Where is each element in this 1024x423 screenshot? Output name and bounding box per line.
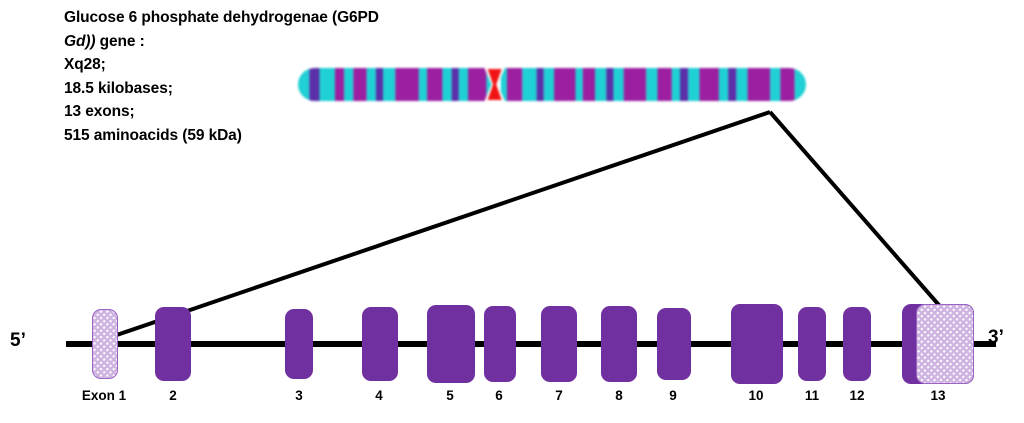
ideogram-band xyxy=(576,68,583,101)
ideogram-band xyxy=(624,68,647,101)
exon-label-3: 3 xyxy=(295,388,303,403)
ideogram-bands xyxy=(296,68,808,101)
ideogram-band xyxy=(699,68,718,101)
gene-word: gene : xyxy=(100,33,145,50)
ideogram-band xyxy=(320,68,335,101)
exon-box-12 xyxy=(843,307,871,381)
annotation-line-gene-alias: Gd)) gene : xyxy=(64,30,364,54)
ideogram-band xyxy=(688,68,699,101)
ideogram-band xyxy=(646,68,657,101)
ideogram-band xyxy=(335,68,344,101)
ideogram-band xyxy=(344,68,353,101)
exon-label-6: 6 xyxy=(495,388,503,403)
ideogram-band xyxy=(507,68,522,101)
exon-label-4: 4 xyxy=(375,388,383,403)
ideogram-band xyxy=(606,68,613,101)
chromosome-ideogram xyxy=(296,62,808,107)
ideogram-band xyxy=(537,68,544,101)
exon-label-9: 9 xyxy=(669,388,677,403)
exon-label-12: 12 xyxy=(849,388,864,403)
exon-13-utr-region xyxy=(916,304,974,384)
ideogram-band xyxy=(427,68,442,101)
ideogram-band xyxy=(595,68,606,101)
exon-label-8: 8 xyxy=(615,388,623,403)
exon-label-2: 2 xyxy=(169,388,177,403)
exon-label-10: 10 xyxy=(748,388,763,403)
ideogram-band xyxy=(657,68,671,101)
ideogram-band xyxy=(468,68,486,101)
ideogram-band xyxy=(452,68,459,101)
three-prime-label: 3’ xyxy=(988,327,1004,349)
five-prime-label: 5’ xyxy=(10,330,26,352)
exon-label-13: 13 xyxy=(930,388,945,403)
exon-box-2 xyxy=(155,307,191,381)
annotation-line-gene-name: Glucose 6 phosphate dehydrogenae (G6PD xyxy=(64,6,364,30)
ideogram-band xyxy=(419,68,427,101)
ideogram-band xyxy=(748,68,771,101)
gene-exon-track: Exon 12345678910111213 5’ 3’ xyxy=(0,280,1024,423)
exon-box-10 xyxy=(731,304,783,384)
ideogram-band xyxy=(459,68,468,101)
exon-box-9 xyxy=(657,308,691,380)
exon-label-1: Exon 1 xyxy=(82,388,126,403)
annotation-line-protein: 515 aminoacids (59 kDa) xyxy=(64,124,364,148)
ideogram-band xyxy=(780,68,794,101)
ideogram-band xyxy=(613,68,623,101)
ideogram-band xyxy=(309,68,319,101)
ideogram-band xyxy=(770,68,780,101)
exon-label-11: 11 xyxy=(805,388,819,403)
ideogram-band xyxy=(680,68,688,101)
ideogram-band xyxy=(795,68,808,101)
exon-box-11 xyxy=(798,307,826,381)
exon-box-3 xyxy=(285,309,313,379)
ideogram-band xyxy=(719,68,728,101)
exon-box-5 xyxy=(427,305,475,383)
ideogram-band xyxy=(383,68,395,101)
ideogram-band xyxy=(583,68,595,101)
exon-box-1 xyxy=(92,309,118,379)
ideogram-band xyxy=(442,68,451,101)
ideogram-band xyxy=(367,68,376,101)
gene-structure-figure: Glucose 6 phosphate dehydrogenae (G6PD G… xyxy=(0,0,1024,423)
ideogram-band xyxy=(522,68,536,101)
ideogram-band xyxy=(736,68,747,101)
exon-box-7 xyxy=(541,306,577,382)
exon-label-7: 7 xyxy=(555,388,563,403)
exon-box-4 xyxy=(362,307,398,381)
ideogram-band xyxy=(672,68,680,101)
exon-box-8 xyxy=(601,306,637,382)
ideogram-band xyxy=(728,68,736,101)
ideogram-band xyxy=(376,68,383,101)
exon-label-5: 5 xyxy=(446,388,454,403)
ideogram-band xyxy=(296,68,309,101)
ideogram-band xyxy=(554,68,576,101)
ideogram-band xyxy=(395,68,419,101)
ideogram-band xyxy=(353,68,366,101)
exon-box-6 xyxy=(484,306,516,382)
gene-alias-italic: Gd)) xyxy=(64,33,95,50)
ideogram-svg xyxy=(296,62,808,107)
ideogram-band xyxy=(544,68,554,101)
